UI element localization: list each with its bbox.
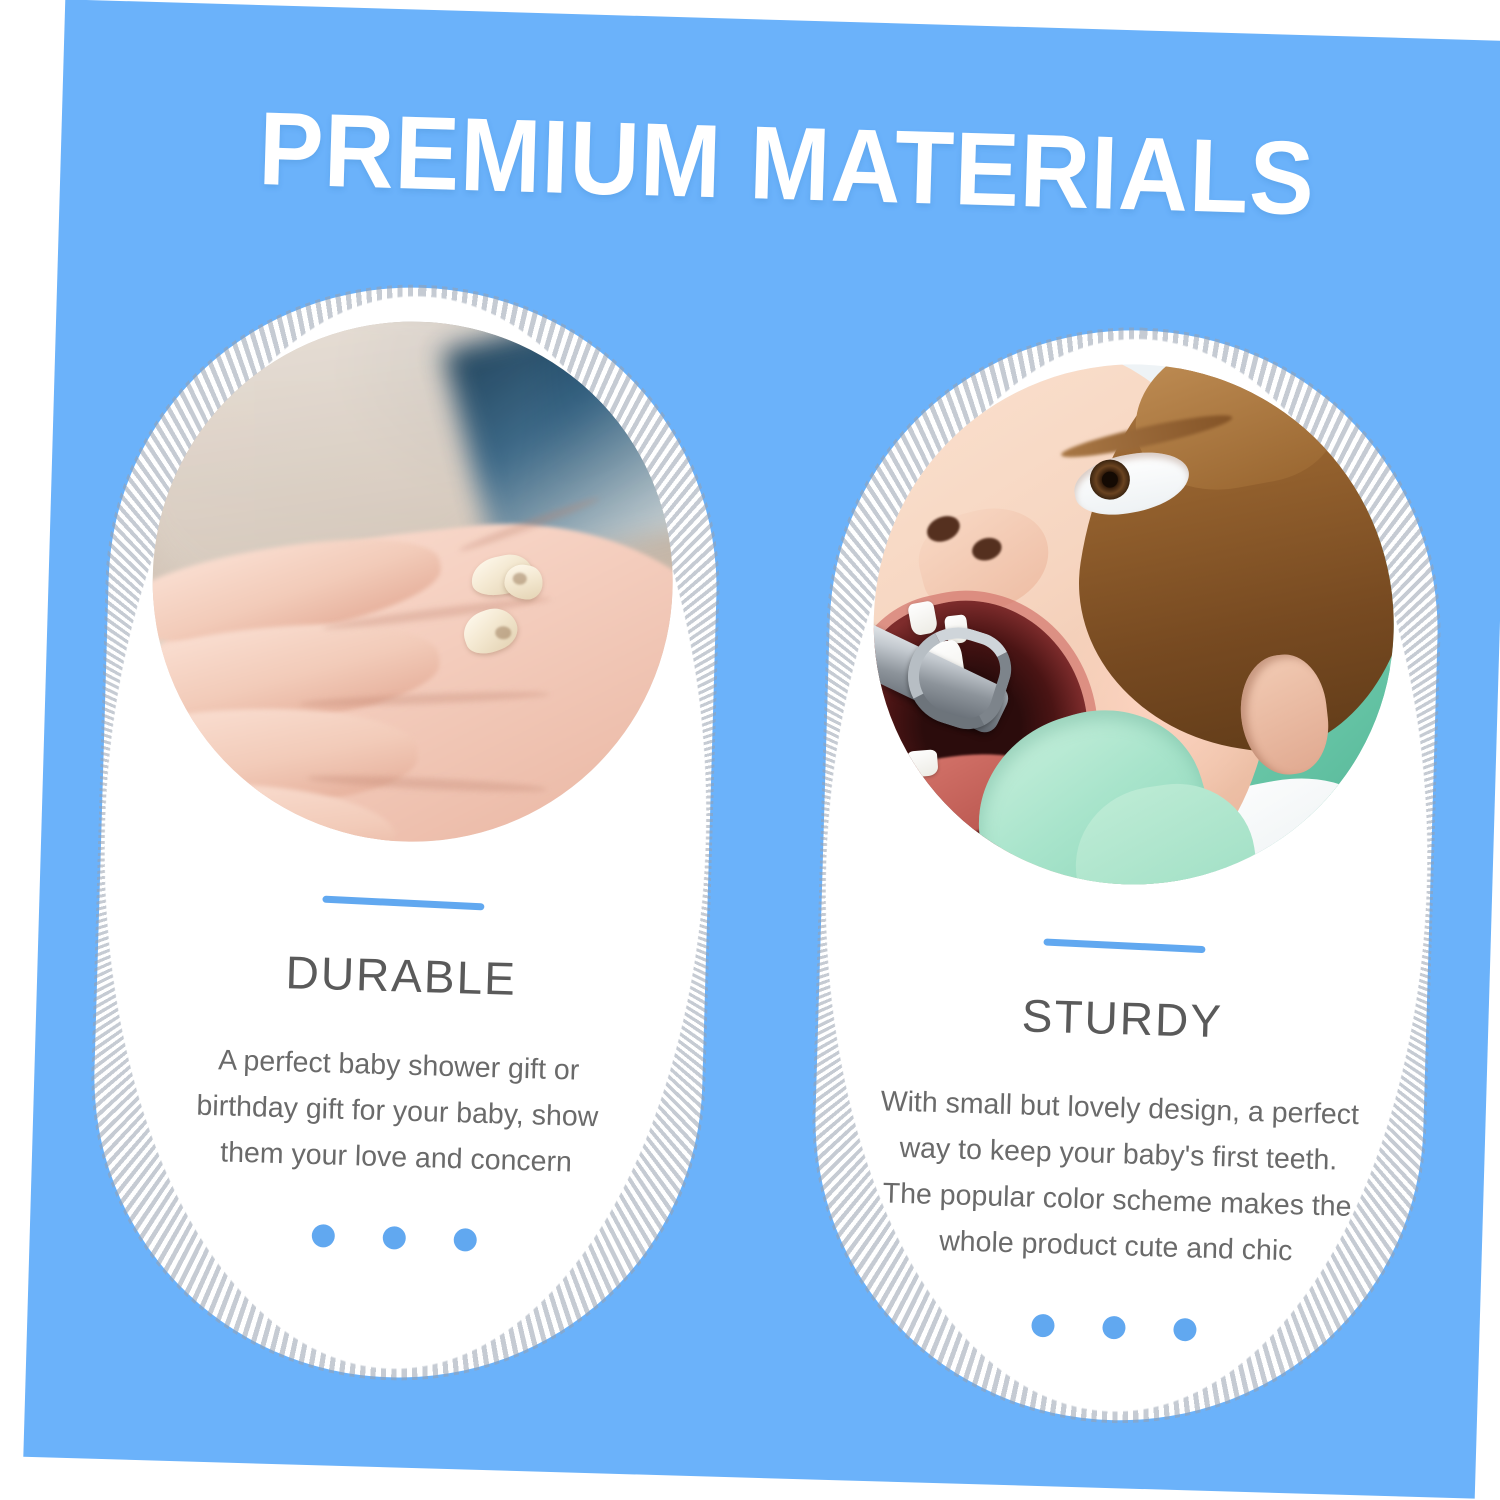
feature-cards-row: DURABLE A perfect baby shower gift or bi…: [85, 279, 1447, 1437]
photo-dentist-tooth-extraction: [866, 357, 1401, 892]
title-divider: [322, 896, 484, 911]
card-title-sturdy: STURDY: [1021, 988, 1224, 1048]
blue-poster-panel: PREMIUM MATERIALS: [23, 0, 1500, 1499]
photo-lower-tooth: [907, 749, 939, 777]
poster-content: PREMIUM MATERIALS: [23, 0, 1500, 1499]
dot-indicator: [1173, 1317, 1197, 1341]
dot-indicator-group: [1031, 1313, 1197, 1341]
dot-indicator: [382, 1227, 406, 1251]
dot-indicator-group: [311, 1224, 477, 1252]
card-description-durable: A perfect baby shower gift or birthday g…: [161, 1036, 635, 1188]
feature-card-durable[interactable]: DURABLE A perfect baby shower gift or bi…: [86, 279, 725, 1386]
photo-baby-teeth-in-palm: [145, 314, 680, 849]
dot-indicator: [1102, 1315, 1126, 1339]
page-title: PREMIUM MATERIALS: [110, 93, 1463, 236]
title-divider: [1043, 938, 1205, 953]
dot-indicator: [453, 1229, 477, 1253]
card-title-durable: DURABLE: [285, 945, 518, 1006]
dot-indicator: [311, 1224, 335, 1248]
feature-card-sturdy[interactable]: STURDY With small but lovely design, a p…: [807, 322, 1446, 1429]
screenshot-root: PREMIUM MATERIALS: [0, 0, 1500, 1500]
card-description-sturdy: With small but lovely design, a perfect …: [873, 1078, 1363, 1277]
dot-indicator: [1031, 1313, 1055, 1337]
